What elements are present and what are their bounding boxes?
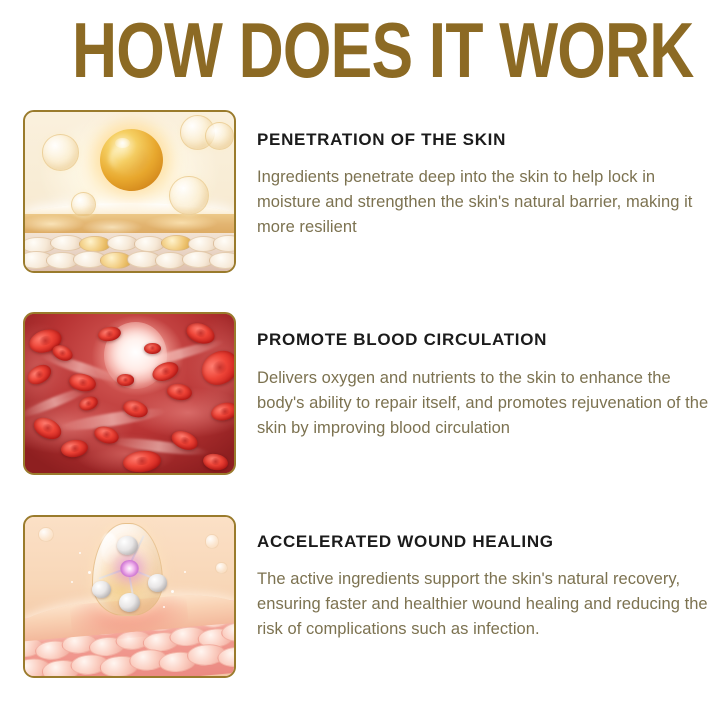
section-body-wound-healing: The active ingredients support the skin'… — [257, 567, 714, 642]
section-heading-circulation: PROMOTE BLOOD CIRCULATION — [257, 330, 714, 350]
section-body-circulation: Delivers oxygen and nutrients to the ski… — [257, 366, 714, 441]
section-body-penetration: Ingredients penetrate deep into the skin… — [257, 165, 714, 240]
golden-serum-sphere — [100, 129, 163, 191]
section-heading-wound-healing: ACCELERATED WOUND HEALING — [257, 532, 714, 552]
circulation-text-column: PROMOTE BLOOD CIRCULATION Delivers oxyge… — [236, 312, 720, 441]
benefit-section-circulation: PROMOTE BLOOD CIRCULATION Delivers oxyge… — [0, 312, 720, 475]
infographic-page: HOW DOES IT WORK — [0, 0, 720, 720]
wound-healing-image-card — [23, 515, 236, 678]
benefit-section-penetration: PENETRATION OF THE SKIN Ingredients pene… — [0, 110, 720, 273]
penetration-text-column: PENETRATION OF THE SKIN Ingredients pene… — [236, 110, 720, 240]
skin-penetration-image-card — [23, 110, 236, 273]
skin-penetration-illustration — [25, 112, 234, 271]
page-title: HOW DOES IT WORK — [72, 12, 648, 88]
blood-circulation-illustration — [25, 314, 234, 473]
blood-circulation-image-card — [23, 312, 236, 475]
benefit-section-wound-healing: ACCELERATED WOUND HEALING The active ing… — [0, 515, 720, 678]
wound-healing-illustration — [25, 517, 234, 676]
wound-healing-text-column: ACCELERATED WOUND HEALING The active ing… — [236, 515, 720, 642]
section-heading-penetration: PENETRATION OF THE SKIN — [257, 130, 714, 150]
